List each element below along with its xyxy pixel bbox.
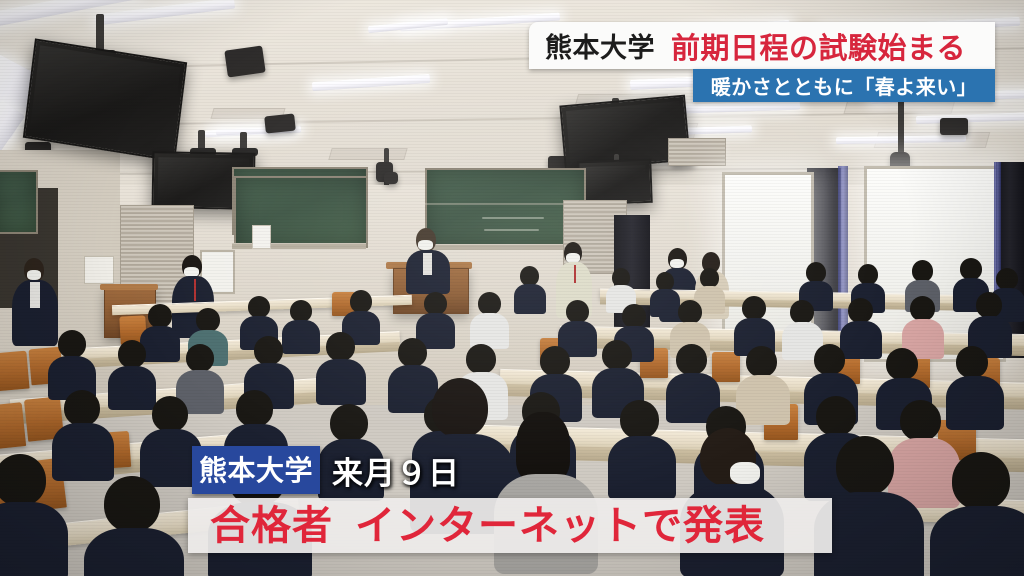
head [620,400,659,439]
ceiling-monitor [577,159,652,206]
head [540,346,570,376]
head [996,268,1018,290]
head [952,452,1010,510]
subheadline-banner: 暖かさとともに「春よ来い」 [693,69,995,102]
head [814,344,845,375]
chalkboard-divider [425,203,582,205]
lower-third-headline-part1: 合格者 [210,506,333,546]
head [836,436,894,496]
head [816,396,856,436]
head [700,268,719,288]
head [976,292,1002,318]
lower-third-headline-part2: インターネットで発表 [355,506,765,546]
lower-third-organization: 熊本大学 [192,446,320,494]
torso [282,320,320,354]
broadcast-frame: 熊本大学 前期日程の試験始まる 暖かさとともに「春よ来い」 熊本大学 来月９日 … [0,0,1024,576]
head [152,396,188,432]
torso [930,506,1024,576]
face-mask [27,270,41,280]
head [326,332,355,361]
wall-box [84,256,114,284]
headline-text: 前期日程の試験始まる [671,25,966,67]
chalk-rail [424,244,584,250]
head [676,344,707,375]
head [148,304,172,328]
head [742,296,766,320]
head [118,340,146,368]
head [858,264,878,285]
face-mask [418,240,433,250]
lanyard [574,265,576,283]
head [848,298,873,323]
lanyard [194,279,196,301]
chalkboard-writing [484,229,539,231]
head [466,344,496,374]
ceiling-speaker [224,45,265,77]
ceiling-speaker [264,113,296,133]
head [960,258,982,280]
shirt-front [423,253,432,275]
ceiling-speaker [940,118,968,135]
torso [108,366,156,410]
head [350,290,372,313]
head [806,262,826,283]
head [186,344,214,372]
seat-back [0,351,30,392]
torso [316,359,366,405]
head [602,340,632,370]
head [196,308,220,332]
torso [946,376,1004,430]
torso [514,284,546,314]
head [516,412,570,482]
torso [608,436,676,500]
head [790,300,814,324]
face-mask [730,462,760,484]
side-cabinet-top [100,284,158,290]
torso [650,289,680,317]
headline-organization: 熊本大学 [545,26,655,65]
seat-back [712,352,740,382]
head [254,336,283,365]
ceiling-vent-panel [328,148,407,160]
head [290,300,312,322]
torso [140,326,180,362]
head [64,390,100,426]
head [900,400,941,441]
head [248,296,270,318]
headline-banner: 熊本大学 前期日程の試験始まる [529,22,995,69]
head [398,338,427,367]
torso [0,502,68,576]
lower-third-date: 来月９日 [332,448,460,493]
head [956,346,988,378]
torso [840,321,882,359]
subheadline-text: 暖かさとともに「春よ来い」 [711,71,978,100]
camera-pole [898,96,904,158]
chalkboard-writing [482,217,544,219]
head [622,304,646,328]
head [0,454,46,506]
head [566,300,589,323]
seat-back [0,402,26,450]
face-mask [670,259,684,268]
chalkboard-right [0,170,38,234]
head [478,292,501,315]
head [330,404,368,442]
poster-sign [252,225,271,249]
head [58,330,86,358]
head [910,296,935,321]
head [912,260,933,282]
head [236,390,273,427]
roller-shutter-far-right [668,138,726,166]
lower-third-line1: 熊本大学 来月９日 [192,449,460,491]
torso [52,423,114,481]
head [432,378,488,438]
head [886,348,918,380]
head [424,292,447,315]
chalkboard-main [425,168,586,247]
head [520,266,539,286]
ceiling-camera [384,172,398,184]
head [104,476,160,532]
head [746,346,777,377]
lower-third-headline-band: 合格者 インターネットで発表 [188,498,832,553]
head [678,300,702,324]
torso [84,528,184,576]
shirt-collar [30,282,40,308]
